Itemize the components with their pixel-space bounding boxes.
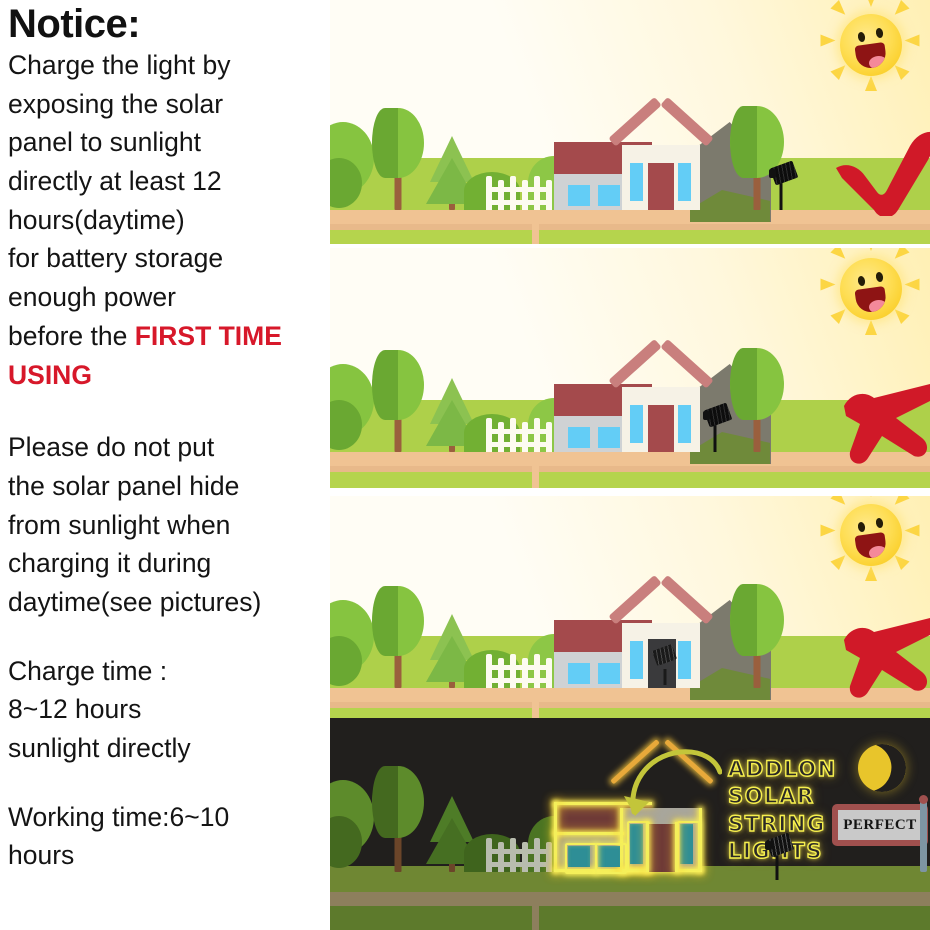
sun-tongue [868, 299, 887, 314]
sun-face [840, 14, 902, 76]
sun-eye [875, 517, 884, 528]
sun-tongue [868, 55, 887, 70]
lamp-stake [664, 669, 667, 685]
window [568, 185, 590, 206]
sun-icon [828, 248, 914, 332]
perfect-sign: PERFECT [832, 804, 928, 846]
solar-lamp [762, 836, 792, 880]
sun-icon [828, 496, 914, 578]
line: hours [8, 840, 74, 870]
sun-mouth [854, 286, 887, 314]
sun-eye [857, 275, 866, 286]
tree-round [370, 586, 426, 688]
line: directly at least 12 [8, 166, 222, 196]
tree-round [370, 350, 426, 452]
tree-round [728, 584, 786, 688]
sun-icon [828, 2, 914, 88]
line: Working time:6~10 [8, 802, 229, 832]
lamp-head [765, 841, 772, 850]
line: panel to sunlight [8, 127, 201, 157]
notice-paragraph-working-time: Working time:6~10 hours [8, 798, 324, 875]
illustration-column: ADDLON SOLAR STRING LIGHTS PERFECT [330, 0, 930, 930]
line: from sunlight when [8, 510, 230, 540]
foliage-shade [372, 586, 398, 656]
window [678, 163, 691, 201]
sign-board: PERFECT [832, 804, 928, 846]
house [554, 101, 726, 210]
cross-icon [838, 380, 930, 466]
sun-eye [857, 31, 866, 42]
sign-label: PERFECT [843, 817, 917, 834]
notice-paragraph-charge-time: Charge time : 8~12 hours sunlight direct… [8, 652, 324, 768]
highlight-first-time: FIRST TIME [135, 321, 282, 351]
spacer [8, 394, 324, 428]
window [598, 663, 620, 684]
lawn-lower [330, 708, 930, 718]
line: hours(daytime) [8, 205, 185, 235]
window [630, 163, 643, 201]
sign-post [920, 798, 927, 872]
solar-lamp [766, 164, 796, 210]
string-light-strand [646, 822, 649, 872]
line: 8~12 hours [8, 694, 141, 724]
string-light-strand [675, 822, 678, 872]
brand-line: SOLAR [728, 783, 837, 810]
picket-fence [486, 418, 552, 452]
sign-post-knob [919, 795, 928, 804]
foliage-shade [372, 108, 398, 178]
house-gable-trim [610, 361, 712, 401]
illustration-panel-correct-sunlight [330, 0, 930, 244]
window-light-frame [677, 821, 700, 871]
string-light-strand [554, 802, 557, 872]
front-door [648, 405, 674, 452]
brand-line: ADDLON [728, 756, 837, 783]
sun-mouth [854, 532, 887, 560]
illustration-panel-wrong-indoors [330, 496, 930, 718]
sun-tongue [868, 545, 887, 560]
cross-icon [838, 614, 930, 700]
sun-eye [857, 521, 866, 532]
notice-title: Notice: [8, 4, 324, 44]
tree-round-shading [728, 348, 786, 452]
window-light-frame [595, 843, 627, 874]
notice-paragraph-do-not-hide: Please do not put the solar panel hide f… [8, 428, 324, 621]
house-gable-trim [610, 119, 712, 159]
window [568, 663, 590, 684]
line: enough power [8, 282, 176, 312]
picket-fence [486, 838, 552, 872]
lawn-lower [330, 230, 930, 244]
string-light-strand [554, 832, 624, 835]
path-seam [532, 224, 539, 244]
spacer [8, 622, 324, 652]
window [678, 405, 691, 443]
line: Charge time : [8, 656, 167, 686]
notice-text-column: Notice: Charge the light by exposing the… [0, 0, 330, 930]
illustration-panel-night-result: ADDLON SOLAR STRING LIGHTS PERFECT [330, 718, 930, 930]
path-seam [532, 892, 539, 930]
spacer [8, 768, 324, 798]
sun-face [840, 258, 902, 320]
moon-icon [852, 738, 912, 798]
line: the solar panel hide [8, 471, 239, 501]
window [678, 641, 691, 679]
pointer-arrow-icon [622, 746, 722, 816]
house-gable-trim [610, 597, 712, 637]
lamp-stake [780, 180, 783, 210]
picket-fence [486, 176, 552, 210]
window [598, 185, 620, 206]
lawn-lower [330, 472, 930, 488]
window [598, 427, 620, 448]
line: charging it during [8, 548, 211, 578]
night-lawn-lower [330, 906, 930, 930]
line: exposing the solar [8, 89, 223, 119]
line: for battery storage [8, 243, 223, 273]
foliage-shade [730, 348, 757, 420]
tree-round [370, 108, 426, 210]
product-notice-page: Notice: Charge the light by exposing the… [0, 0, 930, 930]
house [554, 579, 726, 688]
path-seam [532, 466, 539, 488]
foliage-shade [372, 766, 398, 838]
front-door [649, 824, 675, 872]
foliage-shade [730, 106, 757, 178]
picket-fence [486, 654, 552, 688]
solar-lamp-shaded [700, 406, 730, 452]
highlight-using: USING [8, 360, 92, 390]
tree-round [370, 766, 426, 872]
solar-lamp-indoors [652, 645, 678, 685]
lamp-stake [776, 852, 779, 880]
path-seam [532, 702, 539, 718]
line: sunlight directly [8, 733, 191, 763]
trunk [395, 834, 402, 872]
sun-eye [875, 27, 884, 38]
night-path-band [330, 892, 930, 906]
foliage-shade [372, 350, 398, 420]
foliage-shade [730, 584, 757, 656]
window [630, 405, 643, 443]
line: Please do not put [8, 432, 214, 462]
line-prefix: before the [8, 321, 135, 351]
line: daytime(see pictures) [8, 587, 261, 617]
illustration-panel-wrong-shaded [330, 248, 930, 488]
lamp-head [703, 411, 710, 420]
front-door [648, 163, 674, 210]
line: Charge the light by [8, 50, 230, 80]
sun-eye [875, 271, 884, 282]
lamp-stake [714, 422, 717, 452]
window [568, 427, 590, 448]
sun-mouth [854, 42, 887, 70]
window [630, 641, 643, 679]
notice-paragraph-charging: Charge the light by exposing the solar p… [8, 46, 324, 394]
lamp-head [769, 169, 776, 178]
solar-panel [652, 644, 677, 666]
sun-face [840, 504, 902, 566]
window-light-frame [565, 843, 597, 874]
check-icon [832, 130, 930, 216]
